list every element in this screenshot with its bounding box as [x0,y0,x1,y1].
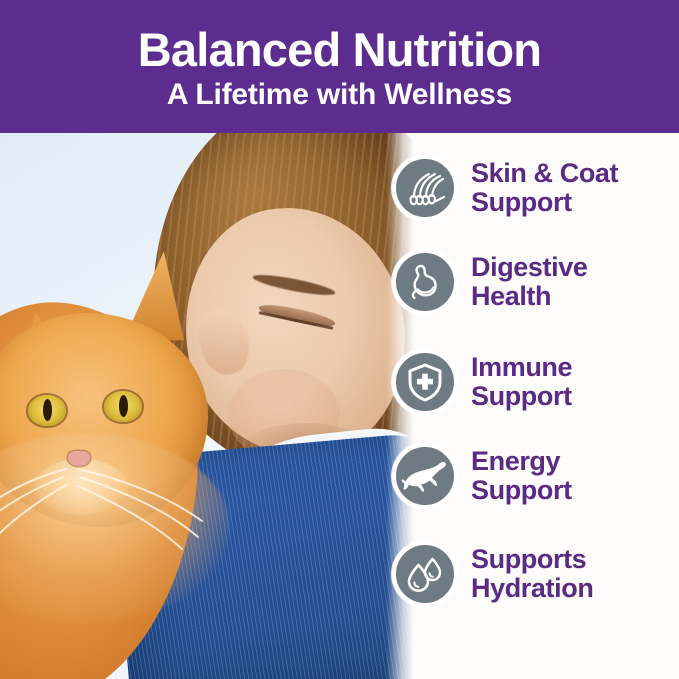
header-band: Balanced Nutrition A Lifetime with Welln… [0,0,679,133]
cat-pupil-right [119,395,128,417]
benefit-label-hydration: Supports Hydration [471,545,593,602]
page-subtitle: A Lifetime with Wellness [167,79,512,111]
benefit-label-line2: Support [471,476,572,505]
benefit-item-hydration[interactable]: Supports Hydration [392,541,679,607]
hair-follicles-icon [392,155,458,221]
benefit-label-line1: Supports [471,544,586,574]
benefit-label-digestive: Digestive Health [471,253,587,310]
benefit-item-digestive[interactable]: Digestive Health [392,249,679,315]
leaping-cat-icon [392,443,458,509]
benefit-label-line1: Digestive [471,252,587,282]
benefit-label-line2: Health [471,282,587,311]
benefit-item-energy[interactable]: Energy Support [392,443,679,509]
benefit-label-energy: Energy Support [471,447,572,504]
benefit-label-line1: Skin & Coat [471,158,618,188]
product-benefits-infographic: Balanced Nutrition A Lifetime with Welln… [0,0,679,679]
shield-cross-icon [392,349,458,415]
benefit-label-line2: Hydration [471,574,593,603]
cat-muzzle [34,459,128,515]
benefit-label-line2: Support [471,382,572,411]
body-area: Skin & Coat Support Digestive Health [0,133,679,679]
benefit-label-line1: Immune [471,352,572,382]
benefit-item-skin-coat[interactable]: Skin & Coat Support [392,155,679,221]
water-droplets-icon [392,541,458,607]
benefit-label-immune: Immune Support [471,353,572,410]
benefits-list: Skin & Coat Support Digestive Health [392,133,679,679]
benefit-item-immune[interactable]: Immune Support [392,349,679,415]
benefit-label-line2: Support [471,188,618,217]
page-title: Balanced Nutrition [138,26,541,74]
hero-photo [0,133,414,679]
benefit-label-skin-coat: Skin & Coat Support [471,159,618,216]
cat-nose [68,451,90,466]
cat-pupil-left [43,399,52,421]
benefit-label-line1: Energy [471,446,560,476]
stomach-icon [392,249,458,315]
